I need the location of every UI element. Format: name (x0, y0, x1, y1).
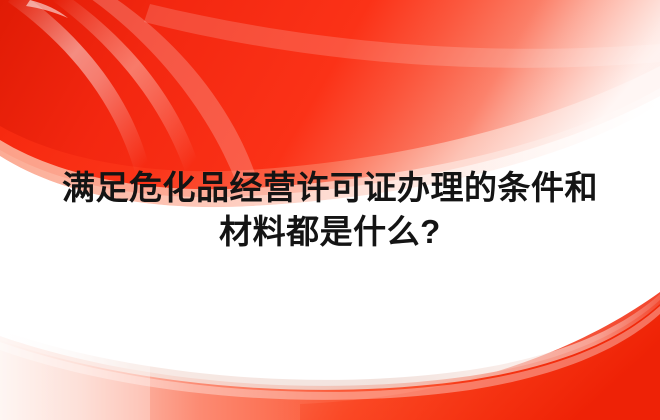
decorative-background (0, 0, 660, 420)
bottom-wedge-dark (300, 292, 660, 420)
banner-canvas: 满足危化品经营许可证办理的条件和 材料都是什么? (0, 0, 660, 420)
bottom-left-fade (0, 330, 150, 420)
top-swoosh-group (0, 0, 660, 219)
bottom-swoosh-group (0, 292, 660, 420)
